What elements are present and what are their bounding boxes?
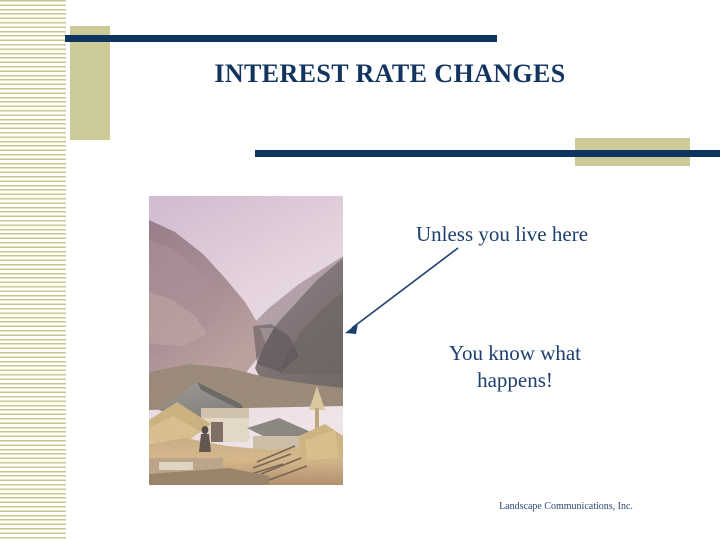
callout-text-bottom: You know what happens! <box>418 340 612 394</box>
striped-left-border <box>0 0 66 540</box>
slide-title: INTEREST RATE CHANGES <box>110 59 670 89</box>
presentation-slide: INTEREST RATE CHANGES <box>0 0 720 540</box>
footer-credit: Landscape Communications, Inc. <box>440 501 692 512</box>
decorative-navy-bar-middle <box>255 150 720 157</box>
decorative-khaki-vertical-block <box>70 26 110 140</box>
mountain-village-photo <box>149 196 343 485</box>
decorative-navy-bar-top <box>65 35 497 42</box>
pointer-arrow <box>338 240 468 340</box>
